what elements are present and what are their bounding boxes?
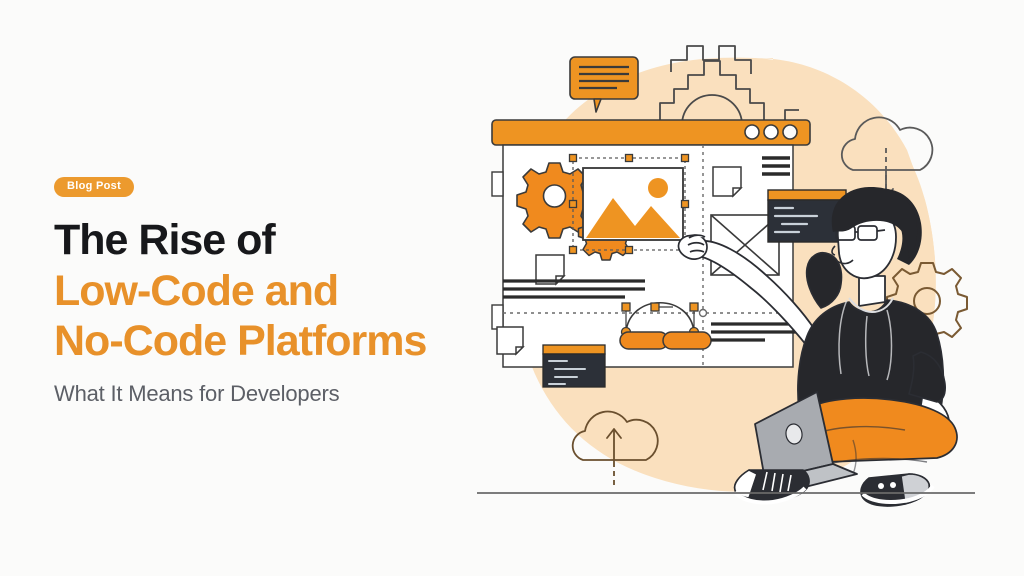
toolbar-dot-1 bbox=[745, 125, 759, 139]
handle-top-left bbox=[570, 155, 577, 162]
page-title-line-1: The Rise of bbox=[54, 215, 484, 266]
handle-mid-right bbox=[682, 201, 689, 208]
sneaker-left bbox=[735, 470, 809, 503]
handle-bottom-center bbox=[626, 247, 633, 254]
page-subtitle: What It Means for Developers bbox=[54, 381, 484, 407]
pill-button-1[interactable] bbox=[620, 332, 668, 349]
hand-grabbing-handle bbox=[678, 235, 707, 259]
handle-mid-left bbox=[570, 201, 577, 208]
page-title-line-3: No-Code Platforms bbox=[54, 316, 484, 367]
pill-button-2[interactable] bbox=[663, 332, 711, 349]
code-window-bottom[interactable] bbox=[543, 345, 605, 387]
hero-text-column: Blog Post The Rise of Low-Code and No-Co… bbox=[54, 176, 484, 407]
handle-bottom-left bbox=[570, 247, 577, 254]
browser-toolbar[interactable] bbox=[492, 120, 810, 145]
handle-top-center bbox=[626, 155, 633, 162]
sticky-note-icon-3 bbox=[497, 327, 523, 354]
guide-intersection-node bbox=[700, 310, 707, 317]
handle-top-right bbox=[682, 155, 689, 162]
bezier-handle-center bbox=[651, 303, 659, 311]
page-title: The Rise of Low-Code and No-Code Platfor… bbox=[54, 215, 484, 367]
toolbar-dot-3 bbox=[783, 125, 797, 139]
toolbar-dot-2 bbox=[764, 125, 778, 139]
status-badge: Blog Post bbox=[54, 177, 134, 197]
sneaker-right bbox=[861, 474, 933, 506]
gear-large-filled-icon bbox=[517, 163, 592, 238]
hero-banner: Blog Post The Rise of Low-Code and No-Co… bbox=[0, 0, 1024, 576]
sticky-note-icon-2 bbox=[713, 167, 741, 196]
image-placeholder[interactable] bbox=[583, 168, 683, 240]
hero-illustration bbox=[455, 0, 1024, 576]
bezier-handle-left bbox=[622, 303, 630, 311]
bezier-handle-right bbox=[690, 303, 698, 311]
page-title-line-2: Low-Code and bbox=[54, 266, 484, 317]
